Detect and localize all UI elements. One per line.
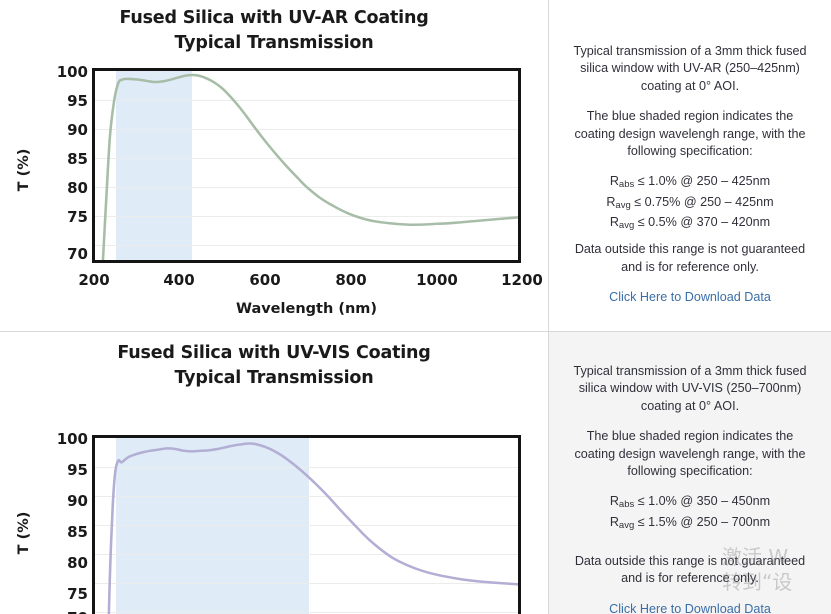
info-intro: Typical transmission of a 3mm thick fuse… <box>567 43 813 95</box>
spec-list-uv-vis: Rabs ≤ 1.0% @ 350 – 450nm Ravg ≤ 1.5% @ … <box>567 493 813 531</box>
xtick-label: 400 <box>157 271 201 289</box>
spec-value: ≤ 1.5% @ 250 – 700nm <box>634 515 770 529</box>
transmission-curve-uv-vis <box>95 438 518 614</box>
xtick-label: 600 <box>243 271 287 289</box>
chart-row-uv-vis: Fused Silica with UV-VIS Coating Typical… <box>0 331 831 614</box>
transmission-spec-page: Fused Silica with UV-AR Coating Typical … <box>0 0 831 614</box>
ytick-label: 95 <box>48 92 88 110</box>
ytick-label: 85 <box>48 150 88 168</box>
xtick-label: 1200 <box>498 271 546 289</box>
spec-symbol: R <box>610 494 619 508</box>
spec-value: ≤ 1.0% @ 350 – 450nm <box>634 494 770 508</box>
download-data-link[interactable]: Click Here to Download Data <box>567 601 813 614</box>
info-disclaimer: Data outside this range is not guarantee… <box>567 241 813 276</box>
ytick-label: 95 <box>48 461 88 479</box>
spec-symbol: R <box>610 215 619 229</box>
chart-cell-uv-vis: Fused Silica with UV-VIS Coating Typical… <box>0 331 549 614</box>
ytick-label: 100 <box>48 63 88 81</box>
y-axis-title: T (%) <box>16 140 32 200</box>
spec-value: ≤ 1.0% @ 250 – 425nm <box>634 174 770 188</box>
spec-line: Ravg ≤ 0.75% @ 250 – 425nm <box>567 194 813 211</box>
spec-symbol: R <box>610 515 619 529</box>
chart-row-uv-ar: Fused Silica with UV-AR Coating Typical … <box>0 0 831 331</box>
ytick-label: 85 <box>48 523 88 541</box>
plot-wrap-uv-vis: 100 95 90 85 80 75 70 T (%) <box>0 332 549 614</box>
spec-value: ≤ 0.75% @ 250 – 425nm <box>631 195 774 209</box>
ytick-label: 75 <box>48 208 88 226</box>
xtick-label: 200 <box>72 271 116 289</box>
info-shading-note: The blue shaded region indicates the coa… <box>567 428 813 480</box>
info-intro: Typical transmission of a 3mm thick fuse… <box>567 363 813 415</box>
spec-line: Ravg ≤ 1.5% @ 250 – 700nm <box>567 514 813 531</box>
info-disclaimer: Data outside this range is not guarantee… <box>567 553 813 588</box>
xtick-label: 800 <box>329 271 373 289</box>
spacer <box>567 541 813 553</box>
xtick-label: 1000 <box>413 271 461 289</box>
ytick-label: 75 <box>48 585 88 603</box>
info-text-uv-ar: Typical transmission of a 3mm thick fuse… <box>549 0 831 307</box>
info-panel-uv-ar: Typical transmission of a 3mm thick fuse… <box>549 0 831 331</box>
spec-subscript: abs <box>619 499 634 510</box>
x-axis-title: Wavelength (nm) <box>92 301 521 317</box>
spec-line: Ravg ≤ 0.5% @ 370 – 420nm <box>567 214 813 231</box>
info-panel-uv-vis: Typical transmission of a 3mm thick fuse… <box>549 331 831 614</box>
ytick-label: 70 <box>48 609 88 614</box>
plot-area-uv-vis <box>92 435 521 614</box>
spec-subscript: avg <box>619 220 634 231</box>
spec-subscript: abs <box>619 179 634 190</box>
spec-subscript: avg <box>615 200 630 211</box>
plot-area-uv-ar <box>92 68 521 263</box>
ytick-label: 90 <box>48 492 88 510</box>
spec-line: Rabs ≤ 1.0% @ 250 – 425nm <box>567 173 813 190</box>
ytick-label: 80 <box>48 179 88 197</box>
spec-list-uv-ar: Rabs ≤ 1.0% @ 250 – 425nm Ravg ≤ 0.75% @… <box>567 173 813 231</box>
transmission-curve-uv-ar <box>95 71 518 260</box>
chart-cell-uv-ar: Fused Silica with UV-AR Coating Typical … <box>0 0 549 331</box>
download-data-link[interactable]: Click Here to Download Data <box>567 289 813 306</box>
spec-line: Rabs ≤ 1.0% @ 350 – 450nm <box>567 493 813 510</box>
spec-subscript: avg <box>619 520 634 531</box>
ytick-label: 100 <box>48 430 88 448</box>
info-shading-note: The blue shaded region indicates the coa… <box>567 108 813 160</box>
info-text-uv-vis: Typical transmission of a 3mm thick fuse… <box>549 332 831 614</box>
ytick-label: 90 <box>48 121 88 139</box>
ytick-label: 70 <box>48 245 88 263</box>
ytick-label: 80 <box>48 554 88 572</box>
spec-value: ≤ 0.5% @ 370 – 420nm <box>634 215 770 229</box>
y-axis-title: T (%) <box>16 503 32 563</box>
spec-symbol: R <box>610 174 619 188</box>
plot-wrap-uv-ar: 100 95 90 85 80 75 70 T (%) <box>0 0 549 331</box>
